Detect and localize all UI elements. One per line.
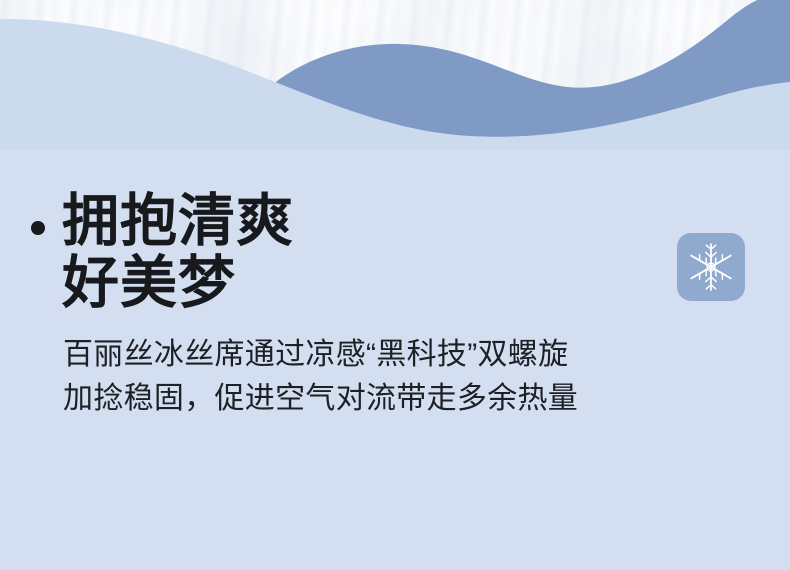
snowflake-badge	[677, 233, 745, 301]
description-text: 百丽丝冰丝席通过凉感“黑科技”双螺旋 加捻稳固，促进空气对流带走多余热量	[63, 333, 578, 421]
snowflake-icon	[685, 241, 737, 293]
page-title: 拥抱清爽 好美梦	[62, 190, 294, 314]
headline-line-1: 拥抱清爽	[62, 190, 294, 252]
headline-line-2: 好美梦	[62, 252, 294, 314]
description-line-2: 加捻稳固，促进空气对流带走多余热量	[63, 377, 578, 421]
banner-content: 拥抱清爽 好美梦 百丽丝冰丝席通过凉感“黑科技”双螺旋 加捻稳固，促进空气对流带…	[0, 0, 790, 570]
product-feature-banner: 拥抱清爽 好美梦 百丽丝冰丝席通过凉感“黑科技”双螺旋 加捻稳固，促进空气对流带…	[0, 0, 790, 570]
bullet-marker	[31, 221, 45, 235]
description-line-1: 百丽丝冰丝席通过凉感“黑科技”双螺旋	[63, 333, 578, 377]
